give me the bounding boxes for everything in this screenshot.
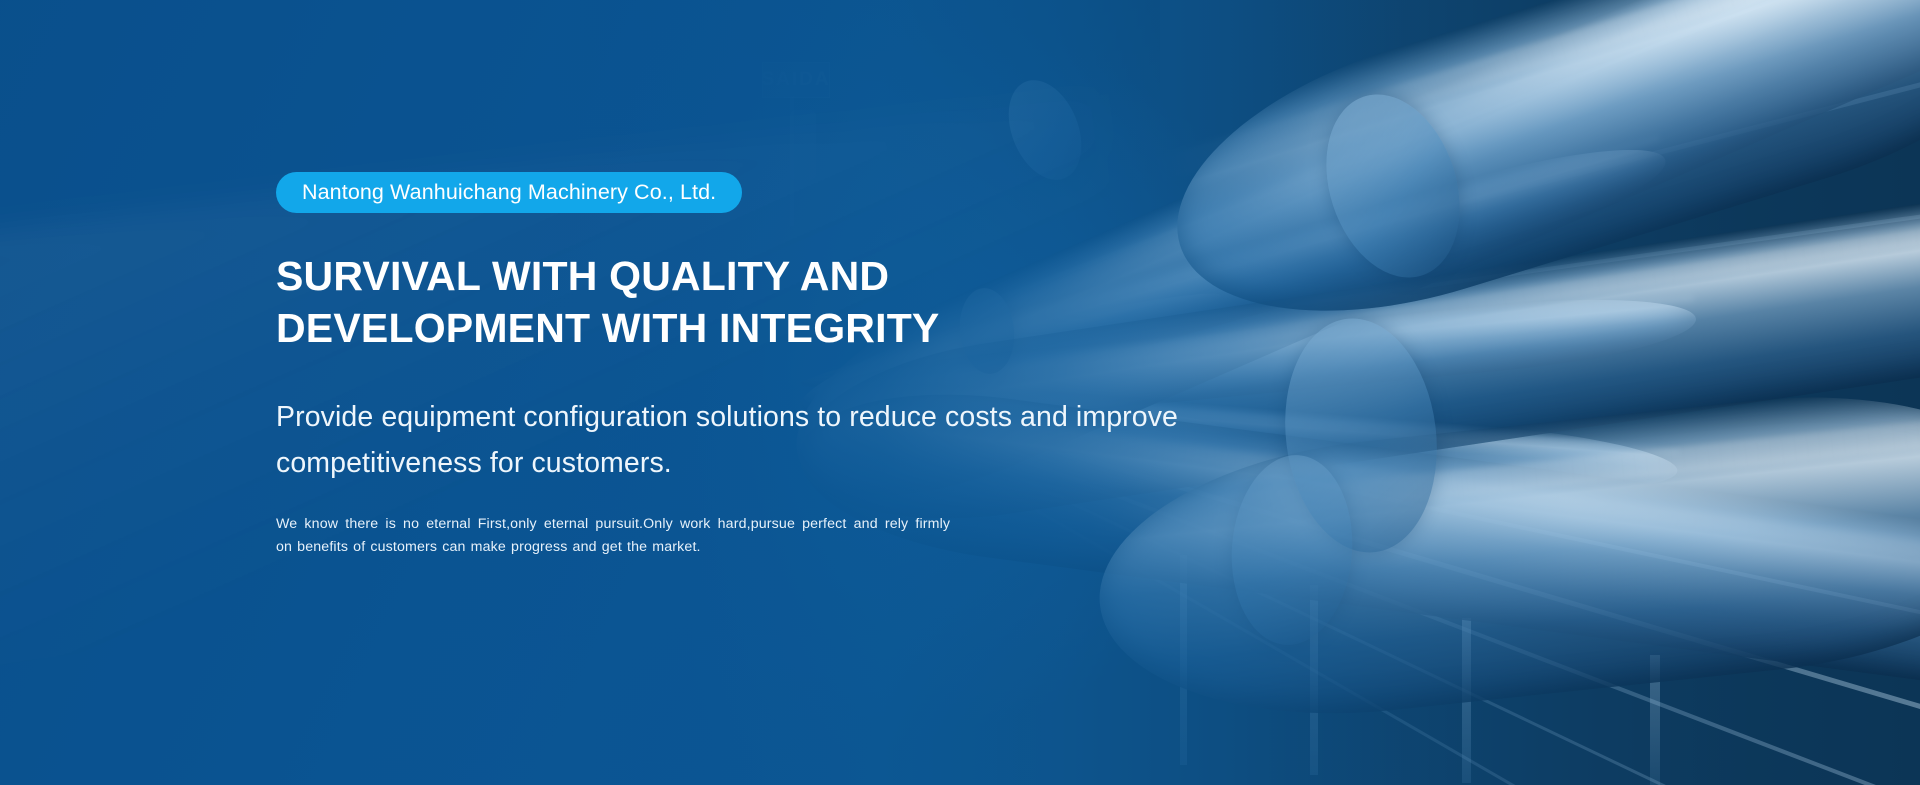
hero-content: Nantong Wanhuichang Machinery Co., Ltd. … [276,0,1376,785]
fineprint-line-2: on benefits of customers can make progre… [276,536,1076,559]
company-name-badge[interactable]: Nantong Wanhuichang Machinery Co., Ltd. [276,172,742,213]
fineprint-line-1: We know there is no eternal First,only e… [276,513,1076,536]
page-title: SURVIVAL WITH QUALITY AND DEVELOPMENT WI… [276,250,939,355]
hero-fineprint: We know there is no eternal First,only e… [276,513,1076,559]
hero-banner: SAIDA Nantong Wanhuichang Machinery Co.,… [0,0,1920,785]
hero-subheading: Provide equipment configuration solution… [276,394,1286,486]
